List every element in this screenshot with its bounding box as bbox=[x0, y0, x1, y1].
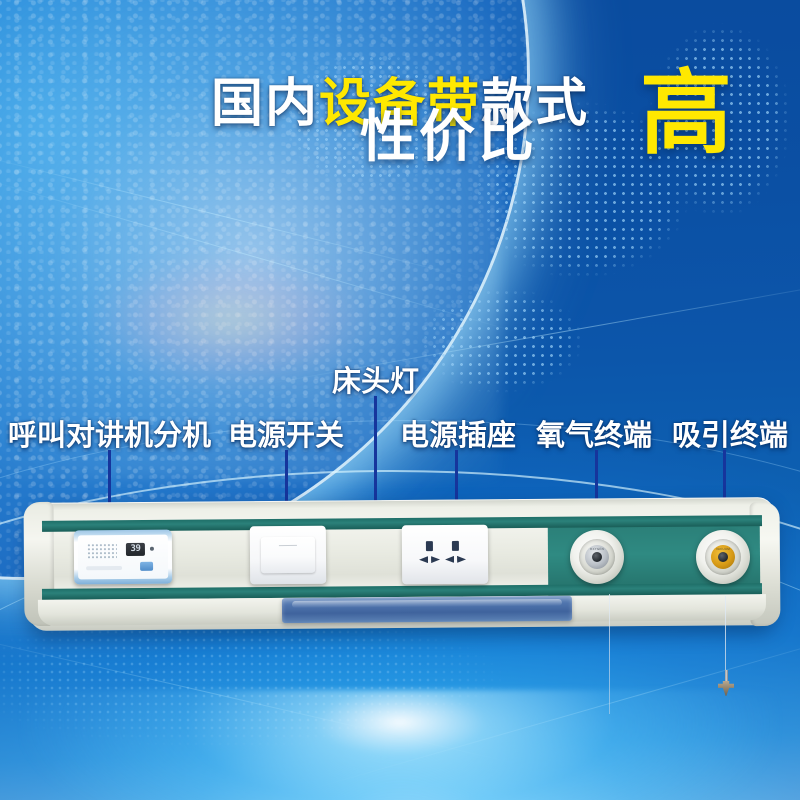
intercom-display: 39 bbox=[126, 543, 145, 556]
promo-banner: 国内设备带款式 性价比 高 呼叫对讲机分机 电源开关 床头灯 电源插座 氧气终端… bbox=[0, 0, 800, 800]
oxygen-terminal[interactable]: OXYGEN bbox=[570, 530, 624, 584]
power-socket[interactable] bbox=[402, 525, 488, 585]
suction-terminal-marking: VACUUM bbox=[711, 547, 735, 551]
oxygen-terminal-port bbox=[592, 552, 602, 562]
nurse-call-intercom[interactable]: 39 bbox=[74, 530, 172, 585]
medical-bed-head-panel: 39 OXYGEN bbox=[28, 500, 776, 628]
socket-pin-slot-a1 bbox=[426, 541, 433, 551]
oxygen-hose-wire bbox=[609, 594, 610, 714]
suction-terminal-ring: VACUUM bbox=[705, 539, 741, 575]
callout-label-socket: 电源插座 bbox=[400, 412, 516, 454]
socket-angled-slot-b-left bbox=[445, 556, 454, 563]
intercom-call-button[interactable] bbox=[140, 562, 153, 571]
headline-line-2: 性价比 bbox=[360, 92, 537, 173]
switch-rocker[interactable] bbox=[261, 537, 315, 573]
oxygen-terminal-socket: OXYGEN bbox=[585, 545, 609, 569]
suction-terminal[interactable]: VACUUM bbox=[696, 530, 750, 584]
bottom-glow bbox=[20, 690, 780, 800]
probe-head bbox=[718, 681, 734, 696]
socket-angled-slot-a-left bbox=[419, 556, 428, 563]
status-led-icon bbox=[150, 547, 154, 551]
callout-label-intercom: 呼叫对讲机分机 bbox=[8, 412, 211, 454]
intercom-slot bbox=[86, 566, 122, 570]
headline-emphasis-2: 高 bbox=[640, 68, 732, 160]
suction-terminal-socket: VACUUM bbox=[711, 545, 735, 569]
hanging-probe-fitting bbox=[718, 670, 734, 696]
oxygen-terminal-ring: OXYGEN bbox=[579, 539, 615, 575]
suction-terminal-port bbox=[718, 552, 728, 562]
callout-label-oxygen: 氧气终端 bbox=[536, 412, 652, 454]
socket-pin-slot-b1 bbox=[452, 541, 459, 551]
socket-angled-slot-a-right bbox=[431, 556, 440, 563]
bedside-lamp-diffuser[interactable] bbox=[282, 596, 572, 623]
switch-marking bbox=[279, 545, 297, 546]
speaker-grille-icon bbox=[87, 543, 117, 559]
power-switch[interactable] bbox=[250, 526, 326, 585]
oxygen-terminal-marking: OXYGEN bbox=[585, 547, 609, 551]
callout-label-lamp: 床头灯 bbox=[332, 358, 419, 400]
lamp-gloss bbox=[292, 599, 562, 608]
headline-part-1: 国内 bbox=[211, 75, 319, 133]
socket-angled-slot-b-right bbox=[457, 556, 466, 563]
callout-label-switch: 电源开关 bbox=[228, 412, 344, 454]
callout-label-suction: 吸引终端 bbox=[672, 412, 788, 454]
intercom-faceplate: 39 bbox=[78, 535, 168, 580]
